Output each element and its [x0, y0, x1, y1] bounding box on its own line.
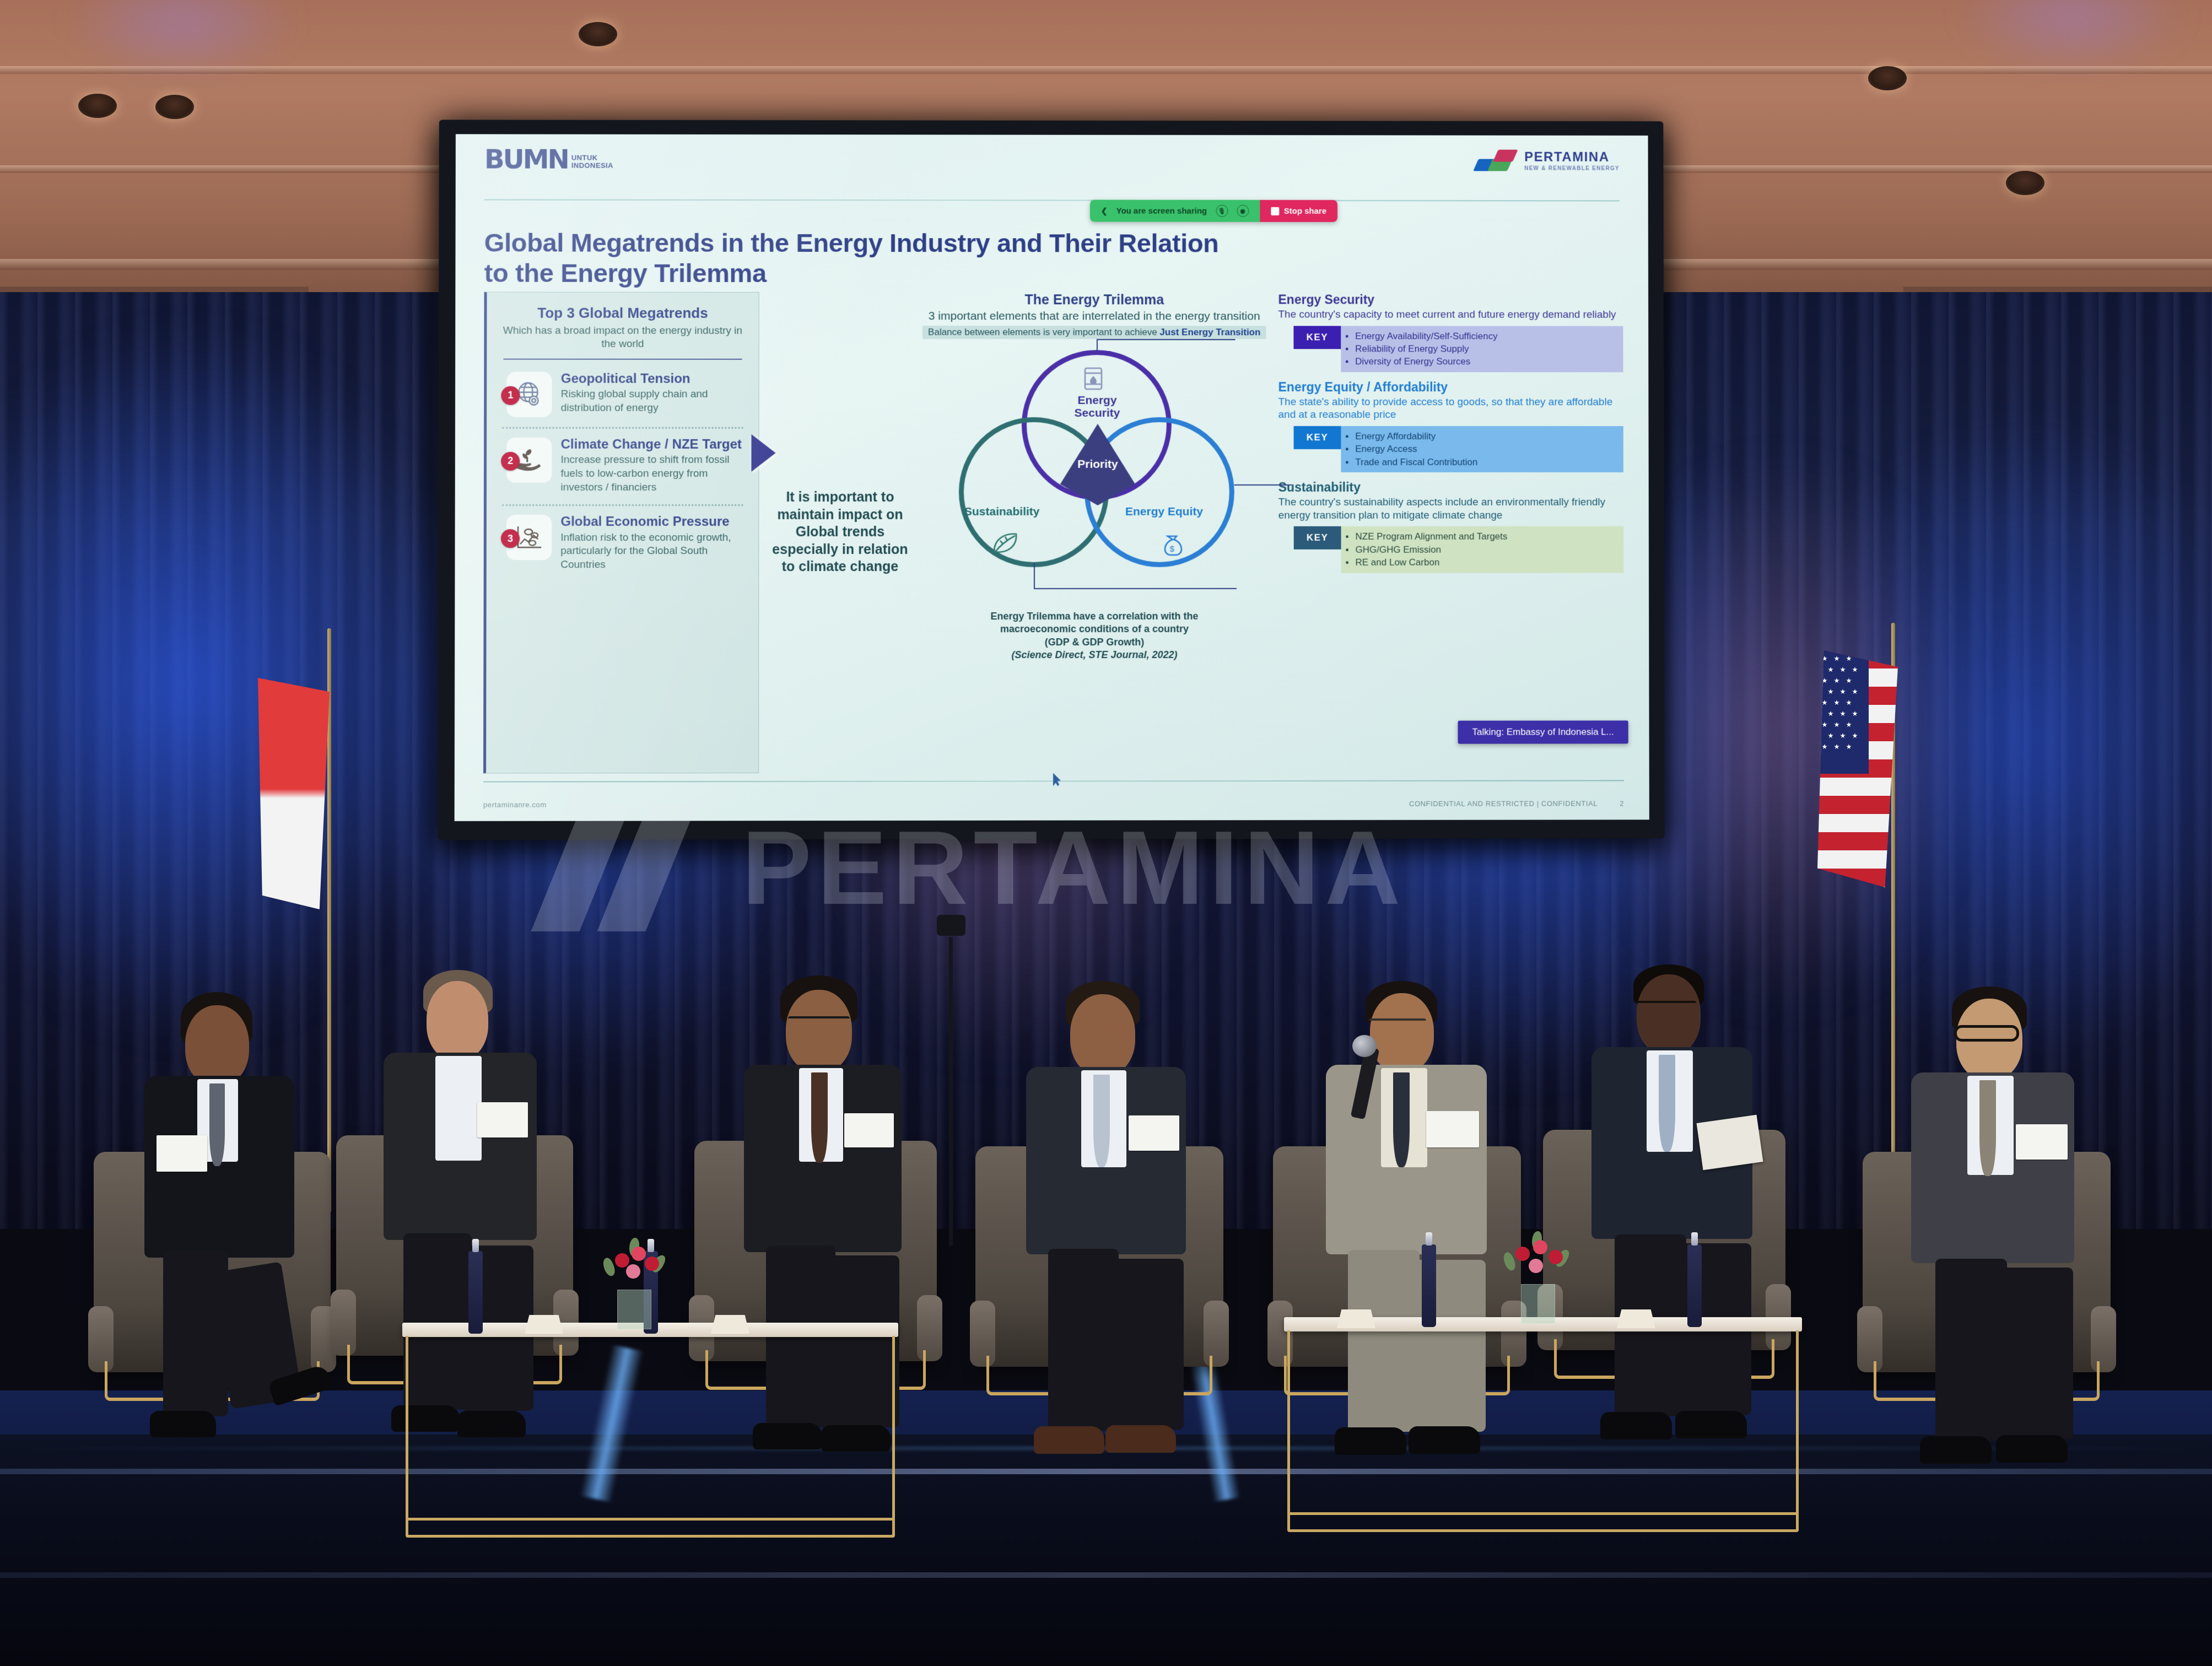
megatrend-number: 1	[501, 386, 520, 405]
bumn-mark-text: BUMN	[484, 144, 568, 175]
megatrend-desc: Inflation risk to the economic growth, p…	[560, 531, 744, 572]
connector-equity	[1234, 484, 1292, 486]
face	[427, 981, 488, 1060]
screen-share-toolbar[interactable]: ❮ You are screen sharing 🎙 ◉ Stop share	[1090, 200, 1337, 222]
oil-barrel-icon	[1081, 365, 1105, 397]
bumn-untuk: UNTUK	[571, 154, 613, 162]
downlight-icon	[78, 94, 117, 118]
venn-priority-label: Priority	[1077, 458, 1118, 471]
downlight-icon	[155, 95, 194, 119]
downlight-icon	[579, 22, 617, 46]
mic-icon[interactable]: 🎙	[1216, 205, 1228, 217]
trilemma-caption: Energy Trilemma have a correlation with …	[921, 610, 1267, 662]
key-row: KEY NZE Program Alignment and Targets GH…	[1294, 526, 1624, 573]
paper-sheet	[1697, 1115, 1763, 1170]
leaf-icon	[991, 531, 1019, 560]
megatrend-dotted-divider	[502, 427, 743, 429]
venn-label-sustainability: Sustainability	[964, 505, 1040, 519]
name-badge	[1426, 1111, 1479, 1147]
camera-head-icon	[937, 915, 965, 936]
megatrend-title: Global Economic Pressure	[560, 515, 744, 529]
eyeglasses-icon	[1636, 1001, 1696, 1013]
bumn-logo: BUMN UNTUK INDONESIA	[484, 148, 613, 171]
megatrend-number: 2	[501, 452, 520, 471]
bridge-column: It is important to maintain impact on Gl…	[759, 292, 921, 773]
venn-diagram: $ Priority Energy Security Sustainabilit…	[940, 347, 1249, 606]
footer-confidential: CONFIDENTIAL AND RESTRICTED | CONFIDENTI…	[1409, 799, 1598, 807]
eyeglasses-icon	[1369, 1018, 1426, 1029]
key-item: Trade and Fiscal Contribution	[1355, 456, 1617, 468]
money-bag-icon: $	[1159, 531, 1185, 563]
key-item: NZE Program Alignment and Targets	[1355, 530, 1617, 543]
detail-title: Energy Equity / Affordability	[1278, 380, 1623, 395]
connector-security	[1097, 339, 1236, 352]
key-tag: KEY	[1294, 426, 1341, 449]
name-badge	[1129, 1115, 1179, 1151]
pertamina-logo: PERTAMINA NEW & RENEWABLE ENERGY	[1476, 150, 1620, 173]
water-bottle	[1422, 1244, 1436, 1327]
rose-bouquet	[1502, 1222, 1574, 1293]
video-icon[interactable]: ◉	[1237, 205, 1249, 217]
downlight-icon	[1868, 66, 1907, 90]
name-badge	[477, 1102, 528, 1137]
trilemma-caption-l3: (GDP & GDP Growth)	[921, 636, 1267, 649]
trilemma-line1: 3 important elements that are interrelat…	[921, 310, 1267, 323]
share-status-group: ❮ You are screen sharing 🎙 ◉	[1090, 200, 1260, 222]
megatrends-divider	[503, 359, 742, 360]
water-bottle	[1687, 1244, 1702, 1327]
megatrend-desc: Increase pressure to shift from fossil f…	[560, 454, 744, 494]
coffee-table-left	[402, 1323, 898, 1538]
detail-energy-equity: Energy Equity / Affordability The state'…	[1278, 380, 1623, 472]
snack-bowl	[1337, 1309, 1375, 1328]
name-badge	[2016, 1124, 2068, 1160]
water-bottle	[468, 1251, 483, 1334]
venn-label-energy-equity: Energy Equity	[1125, 505, 1203, 519]
projection-screen-frame: BUMN UNTUK INDONESIA PERTAMINA	[438, 120, 1664, 840]
key-item: Energy Availability/Self-Sufficiency	[1355, 330, 1616, 343]
face	[1070, 994, 1135, 1076]
bridge-text: It is important to maintain impact on Gl…	[759, 489, 921, 576]
slide-canvas: BUMN UNTUK INDONESIA PERTAMINA	[455, 134, 1649, 821]
stop-share-label: Stop share	[1284, 206, 1326, 215]
active-speaker-tooltip: Talking: Embassy of Indonesia L...	[1458, 720, 1628, 743]
trilemma-heading: The Energy Trilemma	[921, 292, 1267, 308]
megatrends-subheading: Which has a broad impact on the energy i…	[501, 325, 744, 351]
megatrend-item: 3 Global Economic Pressure Inflation ris…	[501, 513, 744, 575]
name-badge	[844, 1113, 894, 1147]
microphone-head	[1352, 1035, 1377, 1057]
mouse-cursor-icon	[1053, 773, 1062, 786]
venn-label-energy-security: Energy Security	[1064, 394, 1130, 419]
trilemma-caption-l2: macroeconomic conditions of a country	[921, 623, 1267, 636]
key-item: Energy Access	[1355, 443, 1617, 456]
key-item: Diversity of Energy Sources	[1355, 355, 1616, 369]
svg-text:$: $	[1170, 544, 1175, 554]
key-item: Reliability of Energy Supply	[1355, 342, 1616, 355]
key-tag: KEY	[1294, 526, 1341, 549]
megatrend-title: Geopolitical Tension	[561, 372, 744, 387]
detail-desc: The country's sustainability aspects inc…	[1278, 496, 1623, 522]
detail-energy-security: Energy Security The country's capacity t…	[1278, 292, 1623, 372]
snack-bowl	[711, 1315, 749, 1334]
snack-bowl	[1617, 1309, 1655, 1328]
share-status-text: You are screen sharing	[1116, 206, 1207, 215]
trilemma-header: The Energy Trilemma 3 important elements…	[921, 292, 1267, 339]
megatrend-title: Climate Change / NZE Target	[561, 438, 744, 452]
key-row: KEY Energy Affordability Energy Access T…	[1294, 426, 1623, 472]
megatrend-desc: Risking global supply chain and distribu…	[561, 388, 744, 416]
trilemma-caption-l1: Energy Trilemma have a correlation with …	[921, 610, 1267, 623]
pertamina-arrow-mark	[1476, 150, 1518, 173]
detail-title: Energy Security	[1278, 292, 1623, 307]
coffee-table-right	[1284, 1317, 1802, 1532]
face	[1370, 993, 1434, 1072]
footer-page-number: 2	[1620, 799, 1624, 807]
detail-desc: The country's capacity to meet current a…	[1278, 308, 1623, 321]
stop-share-button[interactable]: Stop share	[1260, 200, 1337, 222]
key-item: RE and Low Carbon	[1356, 556, 1617, 569]
face	[1637, 974, 1701, 1055]
key-row: KEY Energy Availability/Self-Sufficiency…	[1293, 326, 1623, 372]
chevron-left-icon[interactable]: ❮	[1101, 206, 1108, 215]
face	[185, 1005, 249, 1086]
megatrends-card: Top 3 Global Megatrends Which has a broa…	[483, 292, 759, 774]
megatrend-item: 2 Climate Change / NZE Target Increase p…	[501, 435, 744, 498]
snack-bowl	[525, 1315, 563, 1334]
rose-bouquet	[601, 1228, 670, 1298]
pertamina-tagline: NEW & RENEWABLE ENERGY	[1524, 166, 1620, 172]
megatrend-item: 1 Geopolitical Tension Risking global su…	[501, 370, 744, 420]
footer-website: pertaminanre.com	[483, 801, 547, 809]
pertamina-name: PERTAMINA	[1524, 151, 1620, 164]
megatrend-dotted-divider	[502, 504, 743, 506]
eyeglasses-icon	[1954, 1025, 2019, 1042]
connector-sustainability	[1034, 563, 1237, 589]
camera-tripod	[949, 937, 953, 1246]
detail-title: Sustainability	[1278, 480, 1623, 495]
detail-sustainability: Sustainability The country's sustainabil…	[1278, 480, 1624, 573]
key-list: Energy Availability/Self-Sufficiency Rel…	[1341, 326, 1623, 372]
trilemma-source: (Science Direct, STE Journal, 2022)	[921, 649, 1267, 662]
stop-square-icon	[1271, 207, 1279, 215]
trilemma-column: The Energy Trilemma 3 important elements…	[921, 292, 1267, 773]
slide-title: Global Megatrends in the Energy Industry…	[484, 228, 1223, 288]
trilemma-details: Energy Security The country's capacity t…	[1267, 292, 1623, 773]
scene-root: BUMN UNTUK INDONESIA PERTAMINA	[0, 0, 2212, 1666]
key-item: Energy Affordability	[1355, 430, 1617, 443]
bumn-wordmark: BUMN	[484, 148, 568, 171]
projection-screen: BUMN UNTUK INDONESIA PERTAMINA	[455, 134, 1649, 821]
name-badge	[157, 1135, 207, 1172]
bumn-indonesia: INDONESIA	[571, 161, 613, 169]
face	[786, 990, 852, 1072]
detail-desc: The state's ability to provide access to…	[1278, 396, 1623, 422]
downlight-icon	[2006, 171, 2044, 195]
stage-floor	[0, 1435, 2212, 1666]
key-list: Energy Affordability Energy Access Trade…	[1341, 426, 1623, 472]
eyeglasses-icon	[788, 1016, 850, 1028]
key-list: NZE Program Alignment and Targets GHG/GH…	[1341, 526, 1624, 573]
key-tag: KEY	[1293, 326, 1341, 349]
megatrends-heading: Top 3 Global Megatrends	[501, 305, 744, 322]
trilemma-line2: Balance between elements is very importa…	[922, 326, 1266, 339]
right-arrow-icon	[751, 434, 775, 472]
key-item: GHG/GHG Emission	[1356, 543, 1617, 557]
flag-canton	[1817, 650, 1869, 774]
